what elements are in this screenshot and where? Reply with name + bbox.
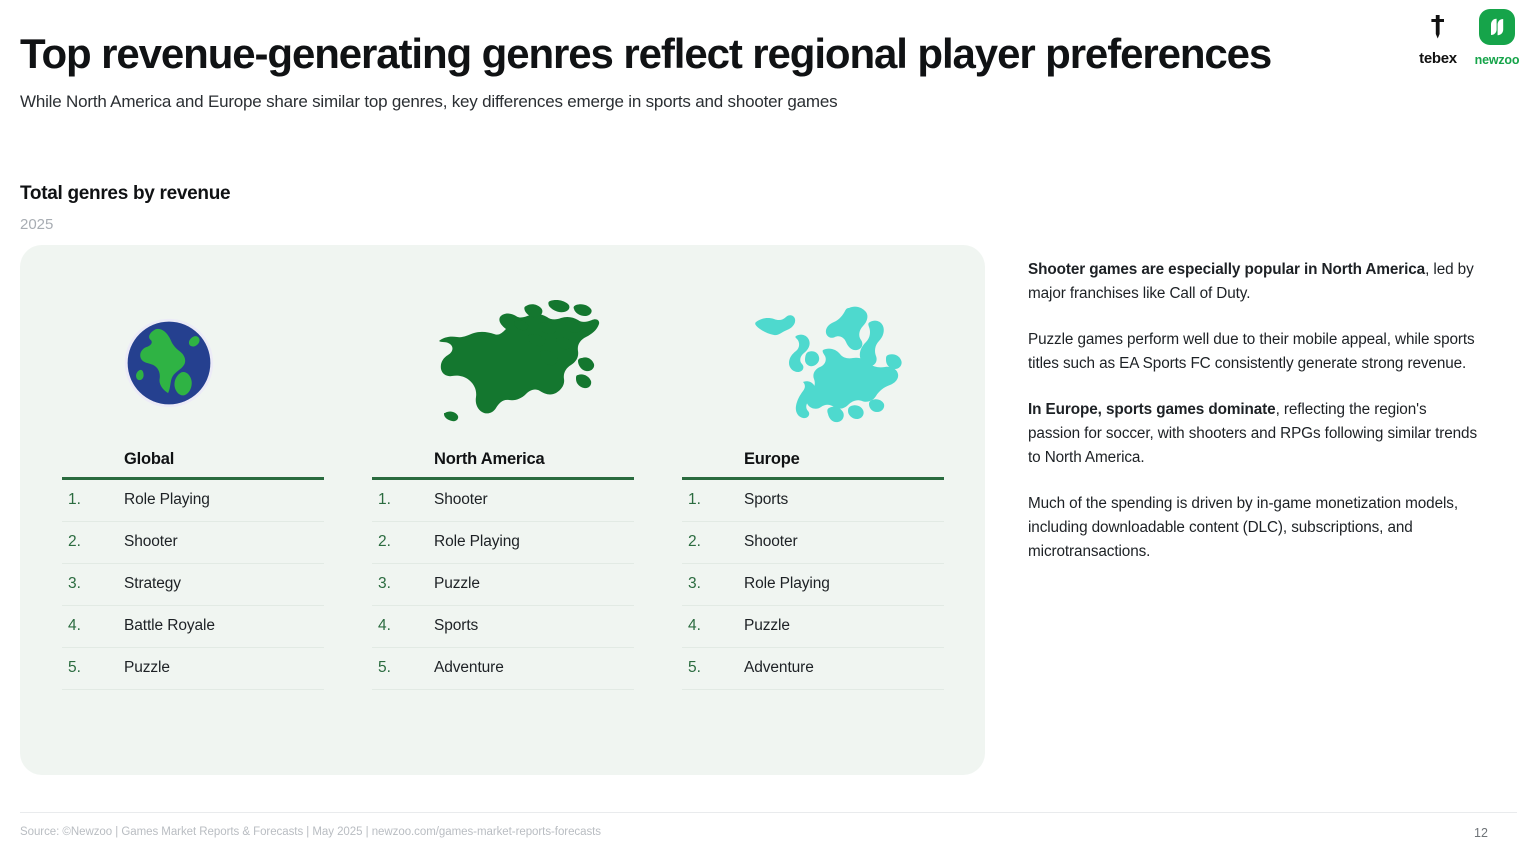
section-year: 2025 [20,216,53,233]
genre-column-header: North America [372,450,662,469]
table-row: 5. Adventure [682,648,944,690]
genre-label: Sports [744,491,788,509]
genre-label: Shooter [744,533,798,551]
rank-label: 5. [682,659,744,677]
table-row: 3. Strategy [62,564,324,606]
globe-icon [62,275,352,450]
table-row: 4. Puzzle [682,606,944,648]
logo-group: tebex newzoo [1413,8,1523,67]
table-row: 3. Puzzle [372,564,634,606]
genre-label: Role Playing [434,533,520,551]
table-row: 5. Adventure [372,648,634,690]
section-title: Total genres by revenue [20,183,230,205]
rank-label: 2. [682,533,744,551]
newzoo-wordmark: newzoo [1475,53,1520,67]
genre-label: Adventure [434,659,504,677]
genre-column-header: Europe [682,450,972,469]
genre-label: Role Playing [744,575,830,593]
source-note: Source: ©Newzoo | Games Market Reports &… [20,826,601,838]
genre-label: Strategy [124,575,181,593]
rank-label: 2. [62,533,124,551]
rank-label: 1. [372,491,434,509]
europe-map-icon [682,275,972,450]
genre-column-global: Global 1. Role Playing 2. Shooter 3. Str… [62,275,352,690]
table-row: 3. Role Playing [682,564,944,606]
genre-label: Shooter [124,533,178,551]
insight-paragraph: In Europe, sports games dominate, reflec… [1028,398,1480,470]
genre-columns: Global 1. Role Playing 2. Shooter 3. Str… [20,245,985,775]
genre-column-header: Global [62,450,352,469]
insight-lead: Shooter games are especially popular in … [1028,261,1425,278]
tebex-wordmark: tebex [1419,50,1457,67]
genre-label: Puzzle [124,659,170,677]
rank-label: 4. [372,617,434,635]
insight-body: Much of the spending is driven by in-gam… [1028,495,1458,560]
genres-card: Global 1. Role Playing 2. Shooter 3. Str… [20,245,985,775]
newzoo-logo: newzoo [1471,8,1523,67]
table-row: 2. Shooter [62,522,324,564]
rank-label: 1. [682,491,744,509]
table-row: 1. Role Playing [62,480,324,522]
page-number: 12 [1474,826,1488,840]
table-row: 4. Battle Royale [62,606,324,648]
table-row: 4. Sports [372,606,634,648]
insights-panel: Shooter games are especially popular in … [1028,258,1480,586]
page-subtitle: While North America and Europe share sim… [20,92,837,112]
insight-paragraph: Shooter games are especially popular in … [1028,258,1480,306]
rank-label: 3. [682,575,744,593]
table-row: 1. Sports [682,480,944,522]
sword-icon [1426,14,1450,49]
rank-label: 1. [62,491,124,509]
table-row: 1. Shooter [372,480,634,522]
footer-divider [20,812,1517,813]
genre-label: Adventure [744,659,814,677]
genre-label: Battle Royale [124,617,215,635]
table-row: 2. Role Playing [372,522,634,564]
genre-column-north-america: North America 1. Shooter 2. Role Playing… [372,275,662,690]
insight-lead: In Europe, sports games dominate [1028,401,1276,418]
tebex-logo: tebex [1413,14,1463,67]
genre-label: Shooter [434,491,488,509]
rank-label: 2. [372,533,434,551]
page-title: Top revenue-generating genres reflect re… [20,32,1271,76]
rank-label: 3. [372,575,434,593]
genre-label: Sports [434,617,478,635]
genre-label: Puzzle [744,617,790,635]
table-row: 2. Shooter [682,522,944,564]
slide: Top revenue-generating genres reflect re… [0,0,1537,852]
rank-label: 4. [62,617,124,635]
insight-paragraph: Puzzle games perform well due to their m… [1028,328,1480,376]
insight-body: Puzzle games perform well due to their m… [1028,331,1475,372]
rank-label: 3. [62,575,124,593]
newzoo-diamond-icon [1478,8,1516,51]
north-america-map-icon [372,275,662,450]
genre-label: Puzzle [434,575,480,593]
rank-label: 5. [62,659,124,677]
insight-paragraph: Much of the spending is driven by in-gam… [1028,492,1480,564]
table-row: 5. Puzzle [62,648,324,690]
genre-column-europe: Europe 1. Sports 2. Shooter 3. Role Play… [682,275,972,690]
genre-label: Role Playing [124,491,210,509]
rank-label: 4. [682,617,744,635]
rank-label: 5. [372,659,434,677]
